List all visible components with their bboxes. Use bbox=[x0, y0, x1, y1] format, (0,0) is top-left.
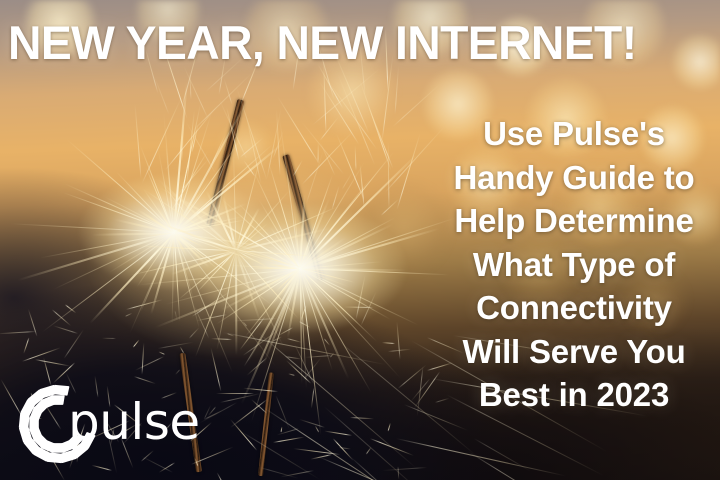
body-copy-line: Help Determine bbox=[432, 199, 716, 243]
body-copy-line: What Type of bbox=[432, 243, 716, 287]
body-copy-line: Use Pulse's bbox=[432, 112, 716, 156]
headline-text: NEW YEAR, NEW INTERNET! bbox=[8, 14, 703, 72]
body-copy-line: Connectivity bbox=[432, 286, 716, 330]
body-copy-line: Will Serve You bbox=[432, 330, 716, 374]
pulse-wordmark: pulse bbox=[68, 395, 200, 449]
body-copy-line: Best in 2023 bbox=[432, 373, 716, 417]
body-copy-line: Handy Guide to bbox=[432, 156, 716, 200]
pulse-logo: pulse bbox=[16, 382, 202, 466]
body-copy-block: Use Pulse's Handy Guide to Help Determin… bbox=[432, 112, 716, 417]
banner-canvas: NEW YEAR, NEW INTERNET! Use Pulse's Hand… bbox=[0, 0, 720, 480]
